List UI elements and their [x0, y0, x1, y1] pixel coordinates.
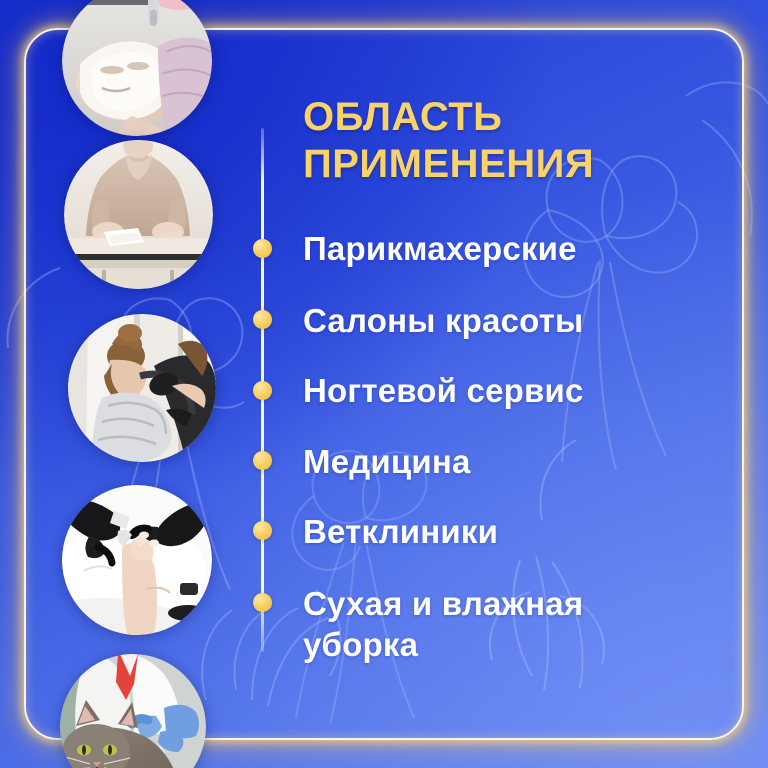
bullet-dot-5: [253, 521, 272, 540]
bullet-dot-2: [253, 310, 272, 329]
list-item-vet-clinics: Ветклиники: [303, 511, 498, 552]
list-item-dry-wet-cleaning: Сухая и влажная уборка: [303, 583, 583, 665]
bullet-dot-6: [253, 593, 272, 612]
list-item-hairdressers: Парикмахерские: [303, 228, 577, 269]
photo-table-wiping-wipes: [64, 140, 213, 289]
list-item-nail-service: Ногтевой сервис: [303, 370, 584, 411]
page-title-line-1: ОБЛАСТЬ: [303, 94, 723, 141]
photo-veterinarian-with-cat: [60, 654, 206, 768]
page-title: ОБЛАСТЬ ПРИМЕНЕНИЯ: [303, 94, 723, 188]
bullet-dot-1: [253, 239, 272, 258]
page-title-line-2: ПРИМЕНЕНИЯ: [303, 141, 723, 188]
list-item-medicine: Медицина: [303, 441, 471, 482]
photo-hair-coloring-salon: [68, 314, 216, 462]
content-column: ОБЛАСТЬ ПРИМЕНЕНИЯ Парикмахерские Салоны…: [303, 0, 758, 768]
list-item-beauty-salons: Салоны красоты: [303, 300, 583, 341]
bullet-dot-3: [253, 381, 272, 400]
photo-manicure-black-gloves: [62, 485, 212, 635]
photo-facial-mask-treatment: [62, 0, 212, 136]
photo-column: [0, 0, 230, 768]
bullet-dot-4: [253, 451, 272, 470]
poster-canvas: ОБЛАСТЬ ПРИМЕНЕНИЯ Парикмахерские Салоны…: [0, 0, 768, 768]
